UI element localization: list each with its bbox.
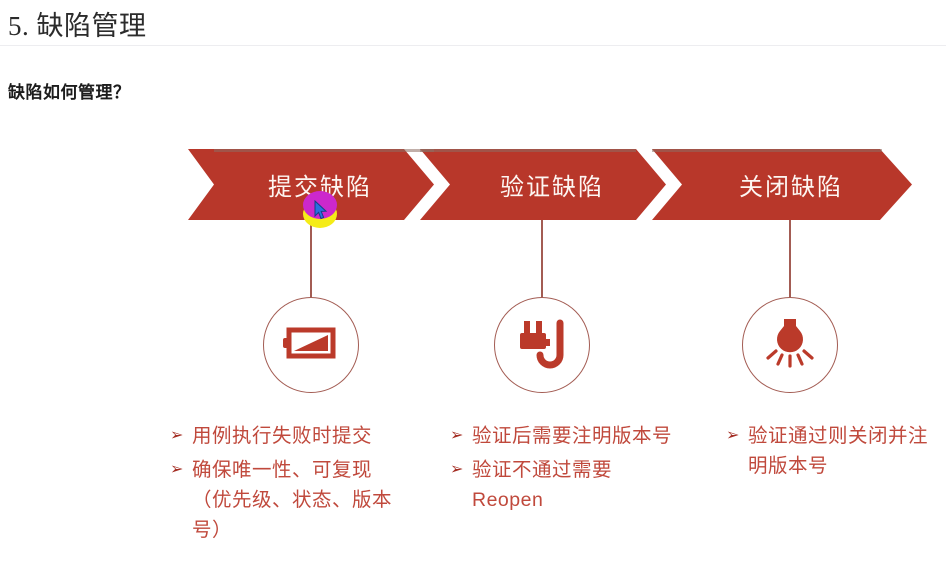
section-subtitle: 缺陷如何管理？ bbox=[8, 78, 131, 103]
process-step-3-chevron[interactable]: 关闭缺陷 bbox=[652, 149, 912, 220]
arrow-bullet-icon: ➢ bbox=[726, 421, 748, 451]
battery-low-icon bbox=[283, 326, 339, 365]
page-title: 5. 缺陷管理 bbox=[8, 4, 147, 43]
connector-line-step-3 bbox=[789, 220, 791, 298]
process-step-3-bullets: ➢ 验证通过则关闭并注明版本号 bbox=[726, 421, 946, 485]
process-step-2-chevron[interactable]: 验证缺陷 bbox=[420, 149, 666, 220]
chevron-1-top-edge bbox=[214, 149, 434, 152]
list-item: ➢ 验证后需要注明版本号 bbox=[450, 421, 680, 451]
process-step-3-icon-circle bbox=[742, 297, 838, 393]
process-step-1-bullets: ➢ 用例执行失败时提交 ➢ 确保唯一性、可复现（优先级、状态、版本号） bbox=[170, 421, 402, 549]
process-step-2-label: 验证缺陷 bbox=[500, 167, 604, 202]
arrow-bullet-icon: ➢ bbox=[450, 455, 472, 485]
chevron-3-top-edge bbox=[652, 149, 882, 152]
process-step-1-icon-circle bbox=[263, 297, 359, 393]
arrow-bullet-icon: ➢ bbox=[450, 421, 472, 451]
process-chevron-banner: 提交缺陷 验证缺陷 关闭缺陷 bbox=[188, 149, 912, 220]
process-step-2-icon-circle bbox=[494, 297, 590, 393]
process-step-3-label: 关闭缺陷 bbox=[739, 167, 843, 202]
list-item: ➢ 验证通过则关闭并注明版本号 bbox=[726, 421, 946, 481]
chevron-2-top-edge bbox=[420, 149, 636, 152]
light-bulb-icon bbox=[763, 316, 817, 375]
connector-line-step-2 bbox=[541, 220, 543, 298]
arrow-bullet-icon: ➢ bbox=[170, 455, 192, 485]
connector-line-step-1 bbox=[310, 220, 312, 298]
list-item: ➢ 确保唯一性、可复现（优先级、状态、版本号） bbox=[170, 455, 402, 545]
mouse-pointer-icon bbox=[314, 200, 328, 220]
list-item: ➢ 用例执行失败时提交 bbox=[170, 421, 402, 451]
power-plug-icon bbox=[514, 315, 570, 376]
process-step-2-bullets: ➢ 验证后需要注明版本号 ➢ 验证不通过需要Reopen bbox=[450, 421, 680, 519]
arrow-bullet-icon: ➢ bbox=[170, 421, 192, 451]
header-divider bbox=[0, 45, 946, 46]
list-item: ➢ 验证不通过需要Reopen bbox=[450, 455, 680, 515]
